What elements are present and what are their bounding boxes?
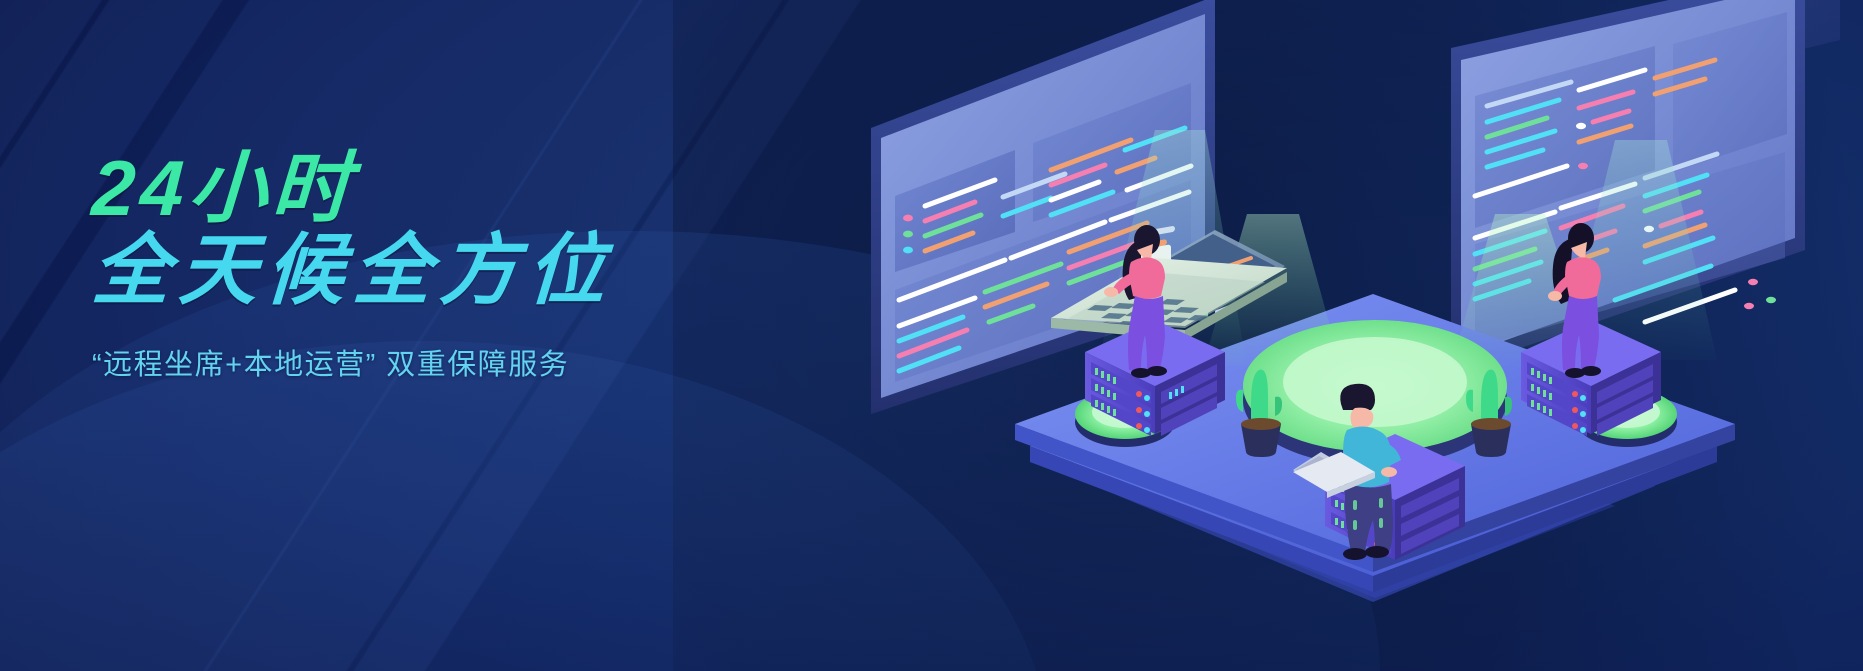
- headline-line-2: 全天候全方位: [90, 232, 616, 308]
- isometric-illustration: [855, 0, 1863, 671]
- headline: 24小时 全天候全方位: [92, 150, 614, 309]
- subtitle: “远程坐席+本地运营” 双重保障服务: [92, 341, 614, 383]
- copy-block: 24小时 全天候全方位 “远程坐席+本地运营” 双重保障服务: [92, 150, 614, 383]
- headline-line-1: 24小时: [90, 150, 616, 226]
- promo-banner: 24小时 全天候全方位 “远程坐席+本地运营” 双重保障服务: [0, 0, 1863, 671]
- status-dots-left: [903, 215, 913, 254]
- illustration-svg: [855, 0, 1863, 671]
- stripe-1: [0, 0, 22, 671]
